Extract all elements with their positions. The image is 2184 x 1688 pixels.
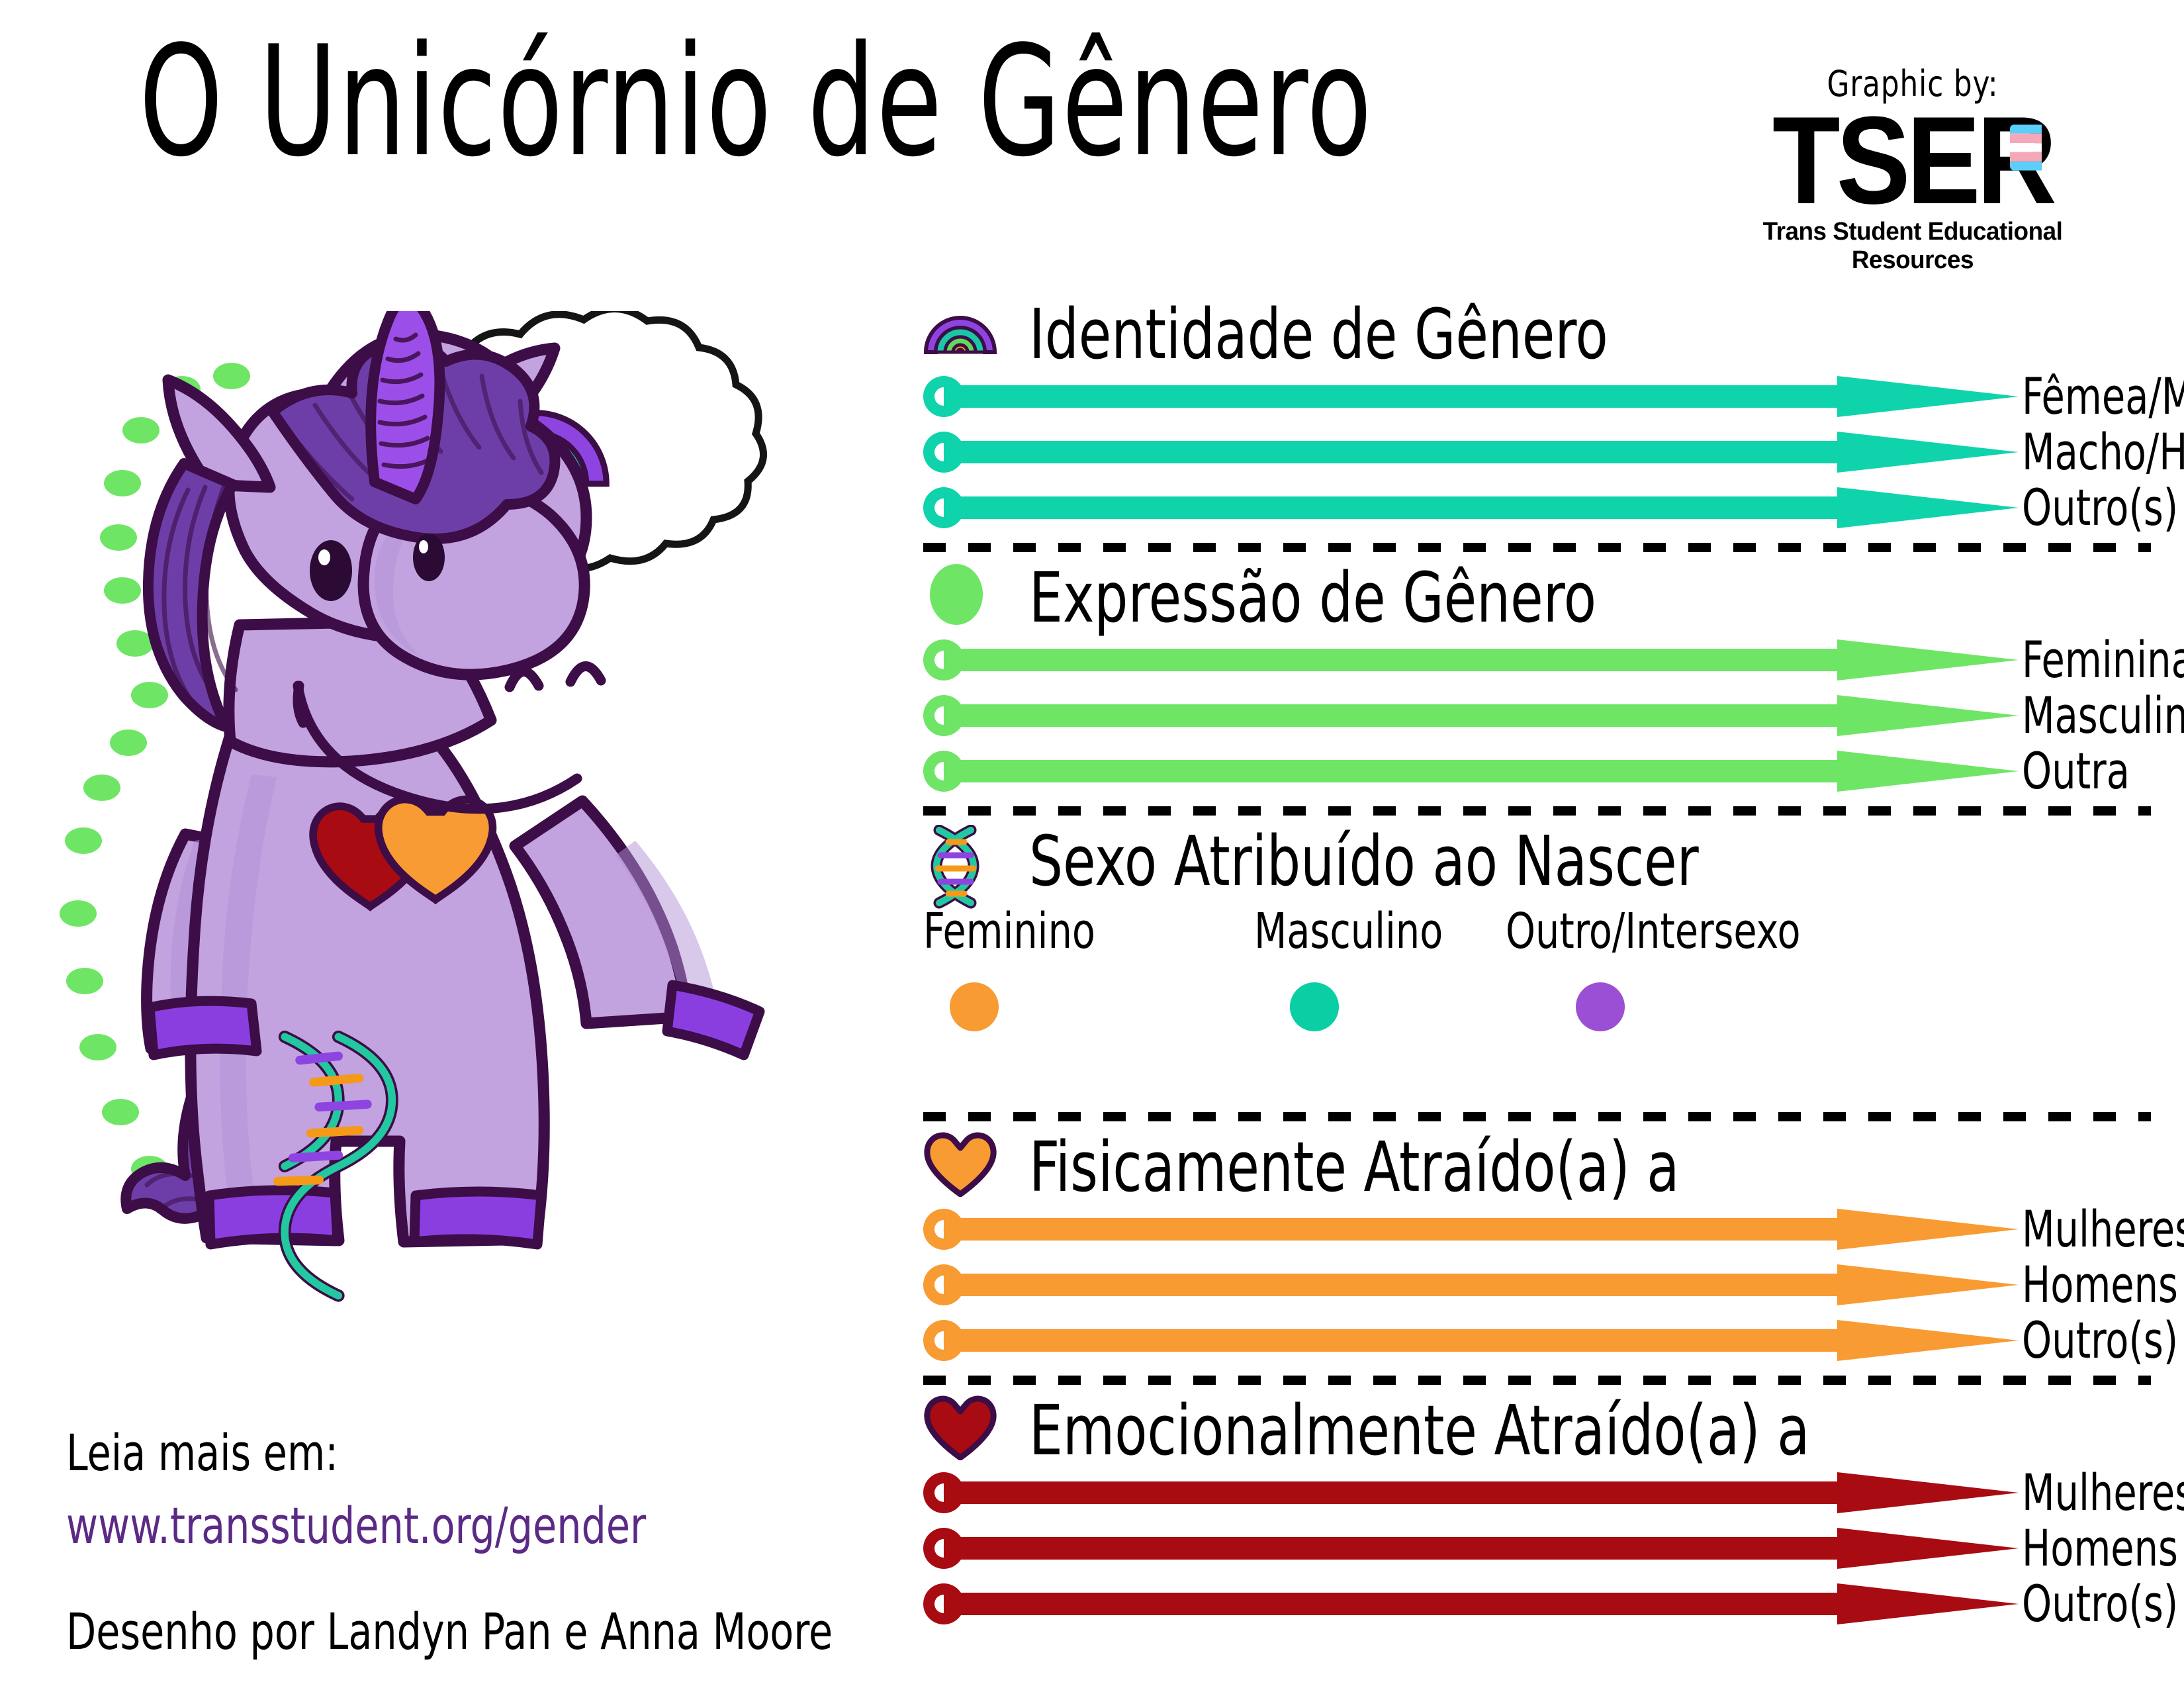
spectrum-row: Outro(s) Gênero(s) xyxy=(923,487,2167,528)
spectrum-arrow xyxy=(923,487,2022,528)
spectrum-arrow xyxy=(923,695,2022,736)
section-title: Emocionalmente Atraído(a) a xyxy=(1029,1390,1809,1471)
spectrum-arrow xyxy=(923,1472,2022,1513)
trans-flag-icon xyxy=(2010,124,2042,170)
spectrum-row-label: Outro(s) Gênero(s) xyxy=(2022,1574,2184,1633)
spectrum-rows: Fêmea/Mulher/Menina Macho/Homem/Menino xyxy=(923,376,2167,528)
sex-option: Outro/Intersexo xyxy=(1506,903,1848,1031)
sex-option: Feminino xyxy=(923,903,1123,1031)
spectrum-row-label: Homens xyxy=(2022,1255,2178,1314)
spectrum-rows: Mulheres Homens Outro( xyxy=(923,1209,2167,1361)
spectrum-row-label: Outro(s) Gênero(s) xyxy=(2022,478,2184,537)
spectrum-arrow xyxy=(923,432,2022,473)
section-title: Fisicamente Atraído(a) a xyxy=(1029,1127,1679,1207)
spectrum-arrow xyxy=(923,1264,2022,1305)
sex-dot-female xyxy=(950,982,999,1031)
unicorn-right-sleeve-cuff xyxy=(667,985,760,1055)
read-more-label: Leia mais em: xyxy=(66,1423,338,1482)
spectrum-arrow xyxy=(923,639,2022,680)
spectrum-row: Feminina xyxy=(923,639,2167,680)
spectrum-row-label: Mulheres xyxy=(2022,1463,2184,1522)
sex-option-label: Outro/Intersexo xyxy=(1506,903,1800,960)
spectrum-row: Masculina xyxy=(923,695,2167,736)
spectrum-arrow xyxy=(923,751,2022,792)
spectrum-rows: Mulheres Homens Outro( xyxy=(923,1472,2167,1624)
spectrum-arrow xyxy=(923,1528,2022,1569)
spectrum-arrow xyxy=(923,1209,2022,1250)
sex-option: Masculino xyxy=(1254,903,1474,1031)
section-header: Expressão de Gênero xyxy=(923,561,2167,639)
spectrum-rows: Feminina Masculina Out xyxy=(923,639,2167,792)
section-emocionalmente: Emocionalmente Atraído(a) a Mulheres xyxy=(923,1394,2167,1624)
spectrum-row: Outro(s) Gênero(s) xyxy=(923,1320,2167,1361)
tser-logo: Graphic by: TSER Trans Student Education… xyxy=(1727,63,2098,275)
section-header: Sexo Atribuído ao Nascer xyxy=(923,825,2167,903)
page-title: O Unicórnio de Gênero xyxy=(139,26,1326,179)
spectrum-row-label: Masculina xyxy=(2022,686,2184,745)
spectrum-row: Mulheres xyxy=(923,1472,2167,1513)
section-expressao: Expressão de Gênero Feminina xyxy=(923,561,2167,792)
section-divider xyxy=(923,1112,2151,1121)
unicorn-horn xyxy=(371,311,439,499)
section-header: Emocionalmente Atraído(a) a xyxy=(923,1394,2167,1472)
unicorn-left-leg-cuff xyxy=(209,1190,338,1244)
dna-icon xyxy=(923,825,997,911)
spectrum-row: Homens xyxy=(923,1264,2167,1305)
spectrum-row: Macho/Homem/Menino xyxy=(923,432,2167,473)
spectrum-row-label: Feminina xyxy=(2022,630,2184,689)
sex-dot-other xyxy=(1576,982,1625,1031)
spectrum-column: Identidade de Gênero Fêmea/Mulher/Menina xyxy=(923,298,2167,1639)
spectrum-row-label: Homens xyxy=(2022,1519,2178,1577)
unicorn-left-sleeve-cuff xyxy=(150,1001,257,1055)
rainbow-icon xyxy=(923,298,997,355)
section-title: Identidade de Gênero xyxy=(1029,294,1608,375)
section-divider xyxy=(923,543,2151,552)
spectrum-row: Mulheres xyxy=(923,1209,2167,1250)
spectrum-row: Outra xyxy=(923,751,2167,792)
spectrum-row: Fêmea/Mulher/Menina xyxy=(923,376,2167,417)
spectrum-row-label: Outra xyxy=(2022,741,2130,800)
section-divider xyxy=(923,806,2151,816)
designed-by-label: Desenho por Landyn Pan e Anna Moore xyxy=(66,1602,833,1661)
section-sexo: Sexo Atribuído ao Nascer Feminino Mascul… xyxy=(923,825,2167,1102)
spectrum-arrow xyxy=(923,1583,2022,1624)
orange-heart-icon xyxy=(923,1131,997,1197)
sex-dot-male xyxy=(1290,982,1339,1031)
unicorn-illustration: .ln{fill:none;stroke:#3C0D46;stroke-widt… xyxy=(53,311,860,1383)
circle-icon xyxy=(923,561,997,628)
spectrum-row-label: Mulheres xyxy=(2022,1199,2184,1258)
spectrum-row-label: Macho/Homem/Menino xyxy=(2022,422,2184,481)
transstudent-link[interactable]: www.transstudent.org/gender xyxy=(66,1496,646,1555)
unicorn-right-leg-cuff xyxy=(414,1192,541,1244)
section-divider xyxy=(923,1376,2151,1385)
spectrum-row-label: Fêmea/Mulher/Menina xyxy=(2022,367,2184,426)
sex-options: Feminino Masculino Outro/Intersexo xyxy=(923,903,2167,1102)
sex-option-label: Masculino xyxy=(1254,903,1443,960)
spectrum-arrow xyxy=(923,1320,2022,1361)
spectrum-row: Homens xyxy=(923,1528,2167,1569)
spectrum-arrow xyxy=(923,376,2022,417)
tser-tagline: Trans Student Educational Resources xyxy=(1733,218,2092,275)
red-heart-icon xyxy=(923,1394,997,1460)
section-identidade: Identidade de Gênero Fêmea/Mulher/Menina xyxy=(923,298,2167,528)
spectrum-row: Outro(s) Gênero(s) xyxy=(923,1583,2167,1624)
section-title: Expressão de Gênero xyxy=(1029,557,1596,638)
tser-wordmark: TSER xyxy=(1772,99,2053,221)
section-header: Identidade de Gênero xyxy=(923,298,2167,376)
spectrum-row-label: Outro(s) Gênero(s) xyxy=(2022,1311,2184,1370)
infographic-canvas: O Unicórnio de Gênero Graphic by: TSER T… xyxy=(0,0,2184,1688)
unicorn-nostrils xyxy=(510,666,601,687)
section-header: Fisicamente Atraído(a) a xyxy=(923,1131,2167,1209)
section-fisicamente: Fisicamente Atraído(a) a Mulheres xyxy=(923,1131,2167,1361)
section-title: Sexo Atribuído ao Nascer xyxy=(1029,821,1699,902)
sex-option-label: Feminino xyxy=(923,903,1095,960)
